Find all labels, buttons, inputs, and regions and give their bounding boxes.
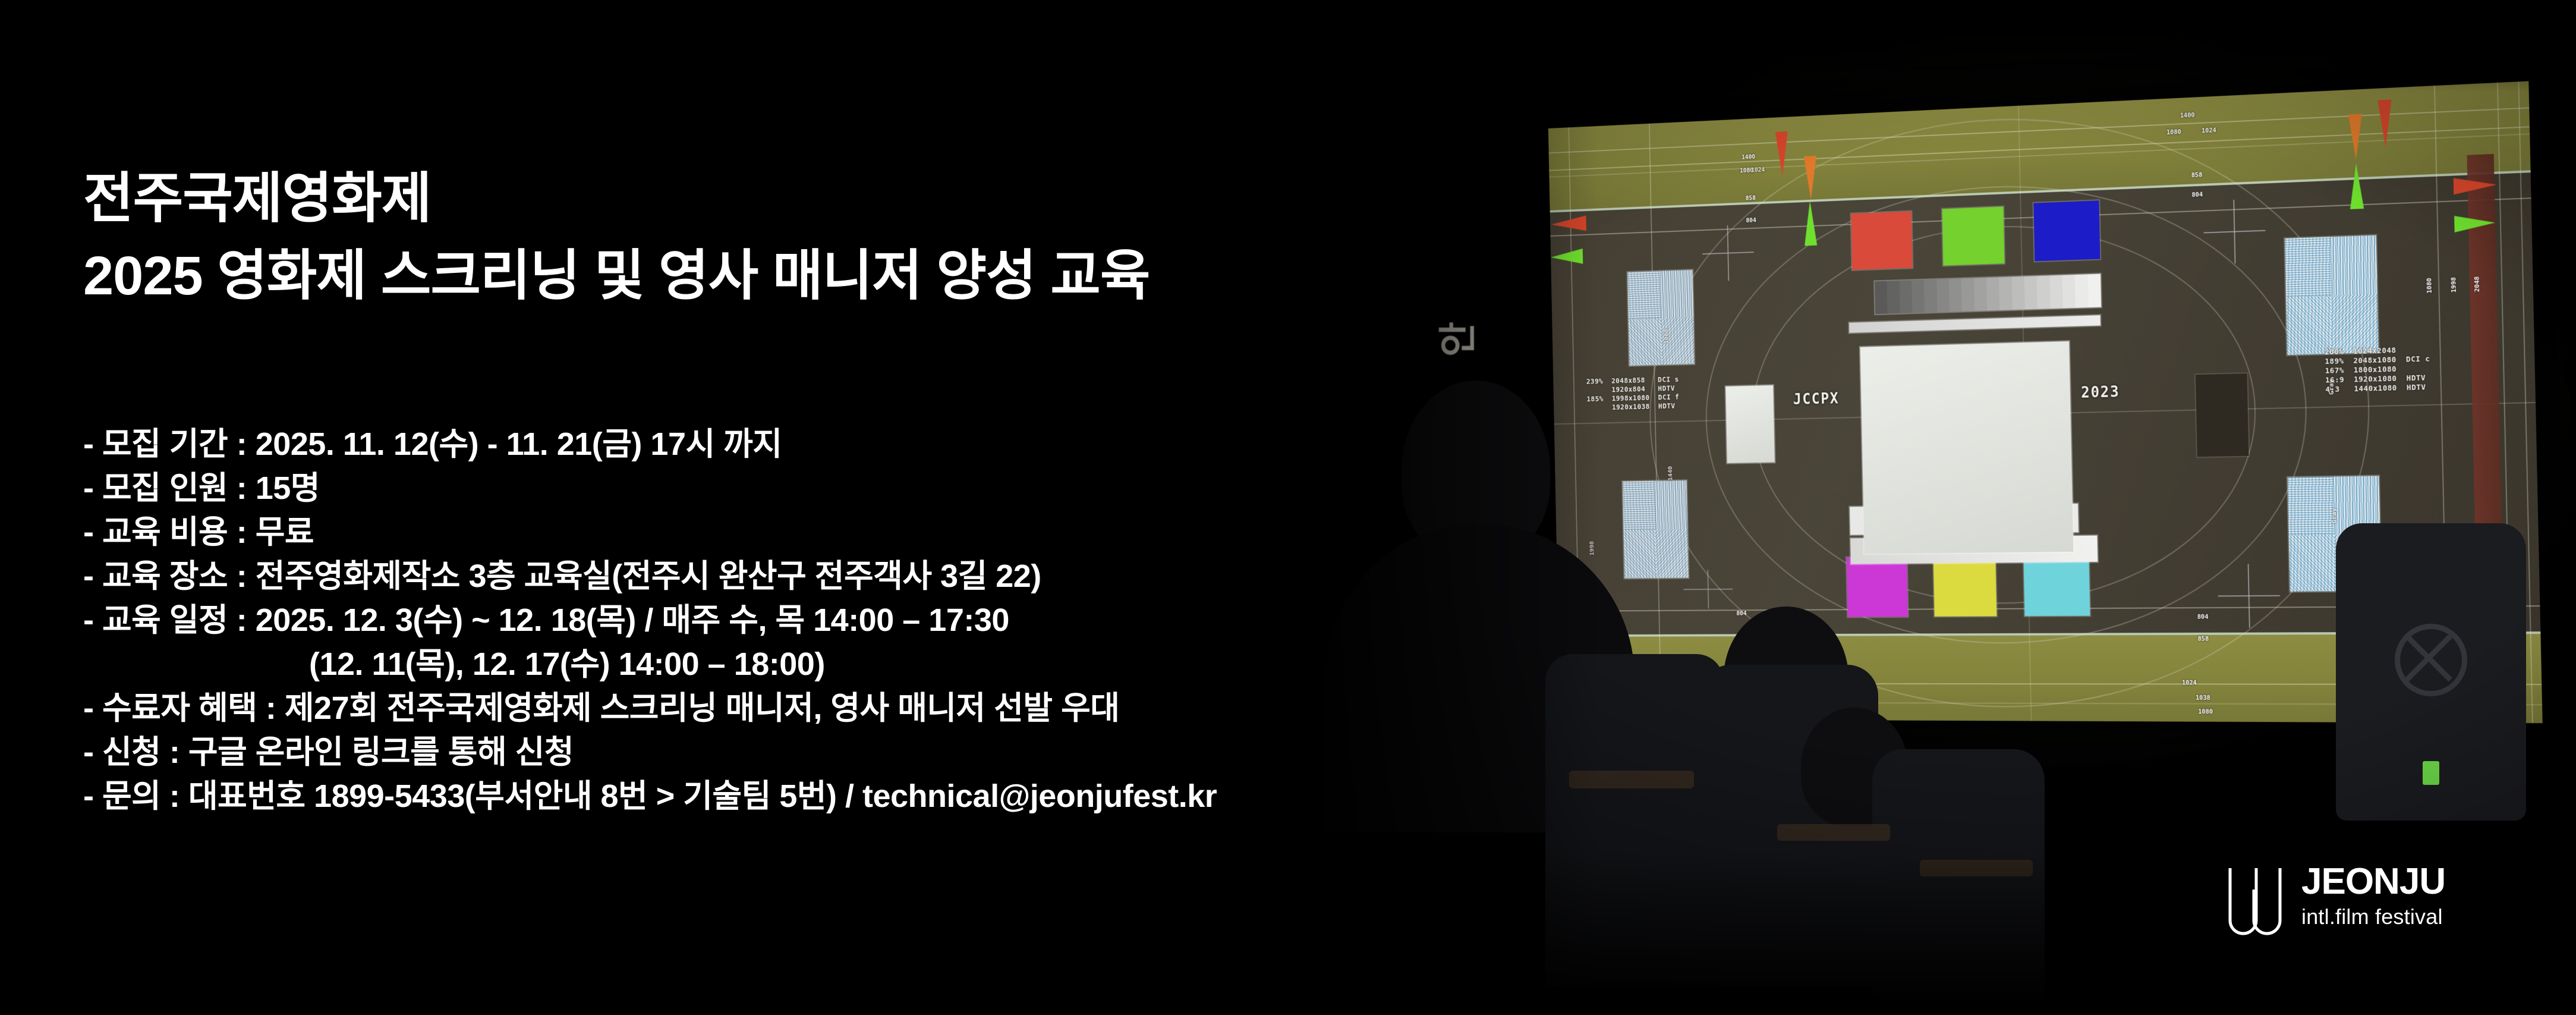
detail-line: - 교육 비용 : 무료 xyxy=(83,510,1629,554)
text-overlay: 전주국제영화제 2025 영화제 스크리닝 및 영사 매니저 양성 교육 - 모… xyxy=(0,0,2576,1015)
details-list: - 모집 기간 : 2025. 11. 12(수) - 11. 21(금) 17… xyxy=(83,422,1629,818)
detail-line: - 신청 : 구글 온라인 링크를 통해 신청 xyxy=(83,730,1629,774)
detail-line: (12. 11(목), 12. 17(수) 14:00 – 18:00) xyxy=(83,642,1629,686)
logo-name: JEONJU xyxy=(2301,863,2445,900)
logo-text-block: JEONJU intl.film festival xyxy=(2301,863,2445,930)
jeonju-iff-logo: JEONJU intl.film festival xyxy=(2224,863,2445,944)
detail-line: - 모집 인원 : 15명 xyxy=(83,466,1629,510)
poster-root: JCCPX 2023 239% 2048x858 DCI s 1920x804 … xyxy=(0,0,2576,1015)
detail-line: - 모집 기간 : 2025. 11. 12(수) - 11. 21(금) 17… xyxy=(83,422,1629,466)
detail-line: - 수료자 혜택 : 제27회 전주국제영화제 스크리닝 매니저, 영사 매니저… xyxy=(83,686,1629,730)
jj-mark-icon xyxy=(2224,866,2286,944)
logo-tagline: intl.film festival xyxy=(2301,904,2445,930)
page-title-line2: 2025 영화제 스크리닝 및 영사 매니저 양성 교육 xyxy=(83,249,1150,304)
detail-line: - 문의 : 대표번호 1899-5433(부서안내 8번 > 기술팀 5번) … xyxy=(83,774,1629,818)
detail-line: - 교육 장소 : 전주영화제작소 3층 교육실(전주시 완산구 전주객사 3길… xyxy=(83,554,1629,598)
detail-line: - 교육 일정 : 2025. 12. 3(수) ~ 12. 18(목) / 매… xyxy=(83,598,1629,642)
page-title-line1: 전주국제영화제 xyxy=(83,171,431,227)
